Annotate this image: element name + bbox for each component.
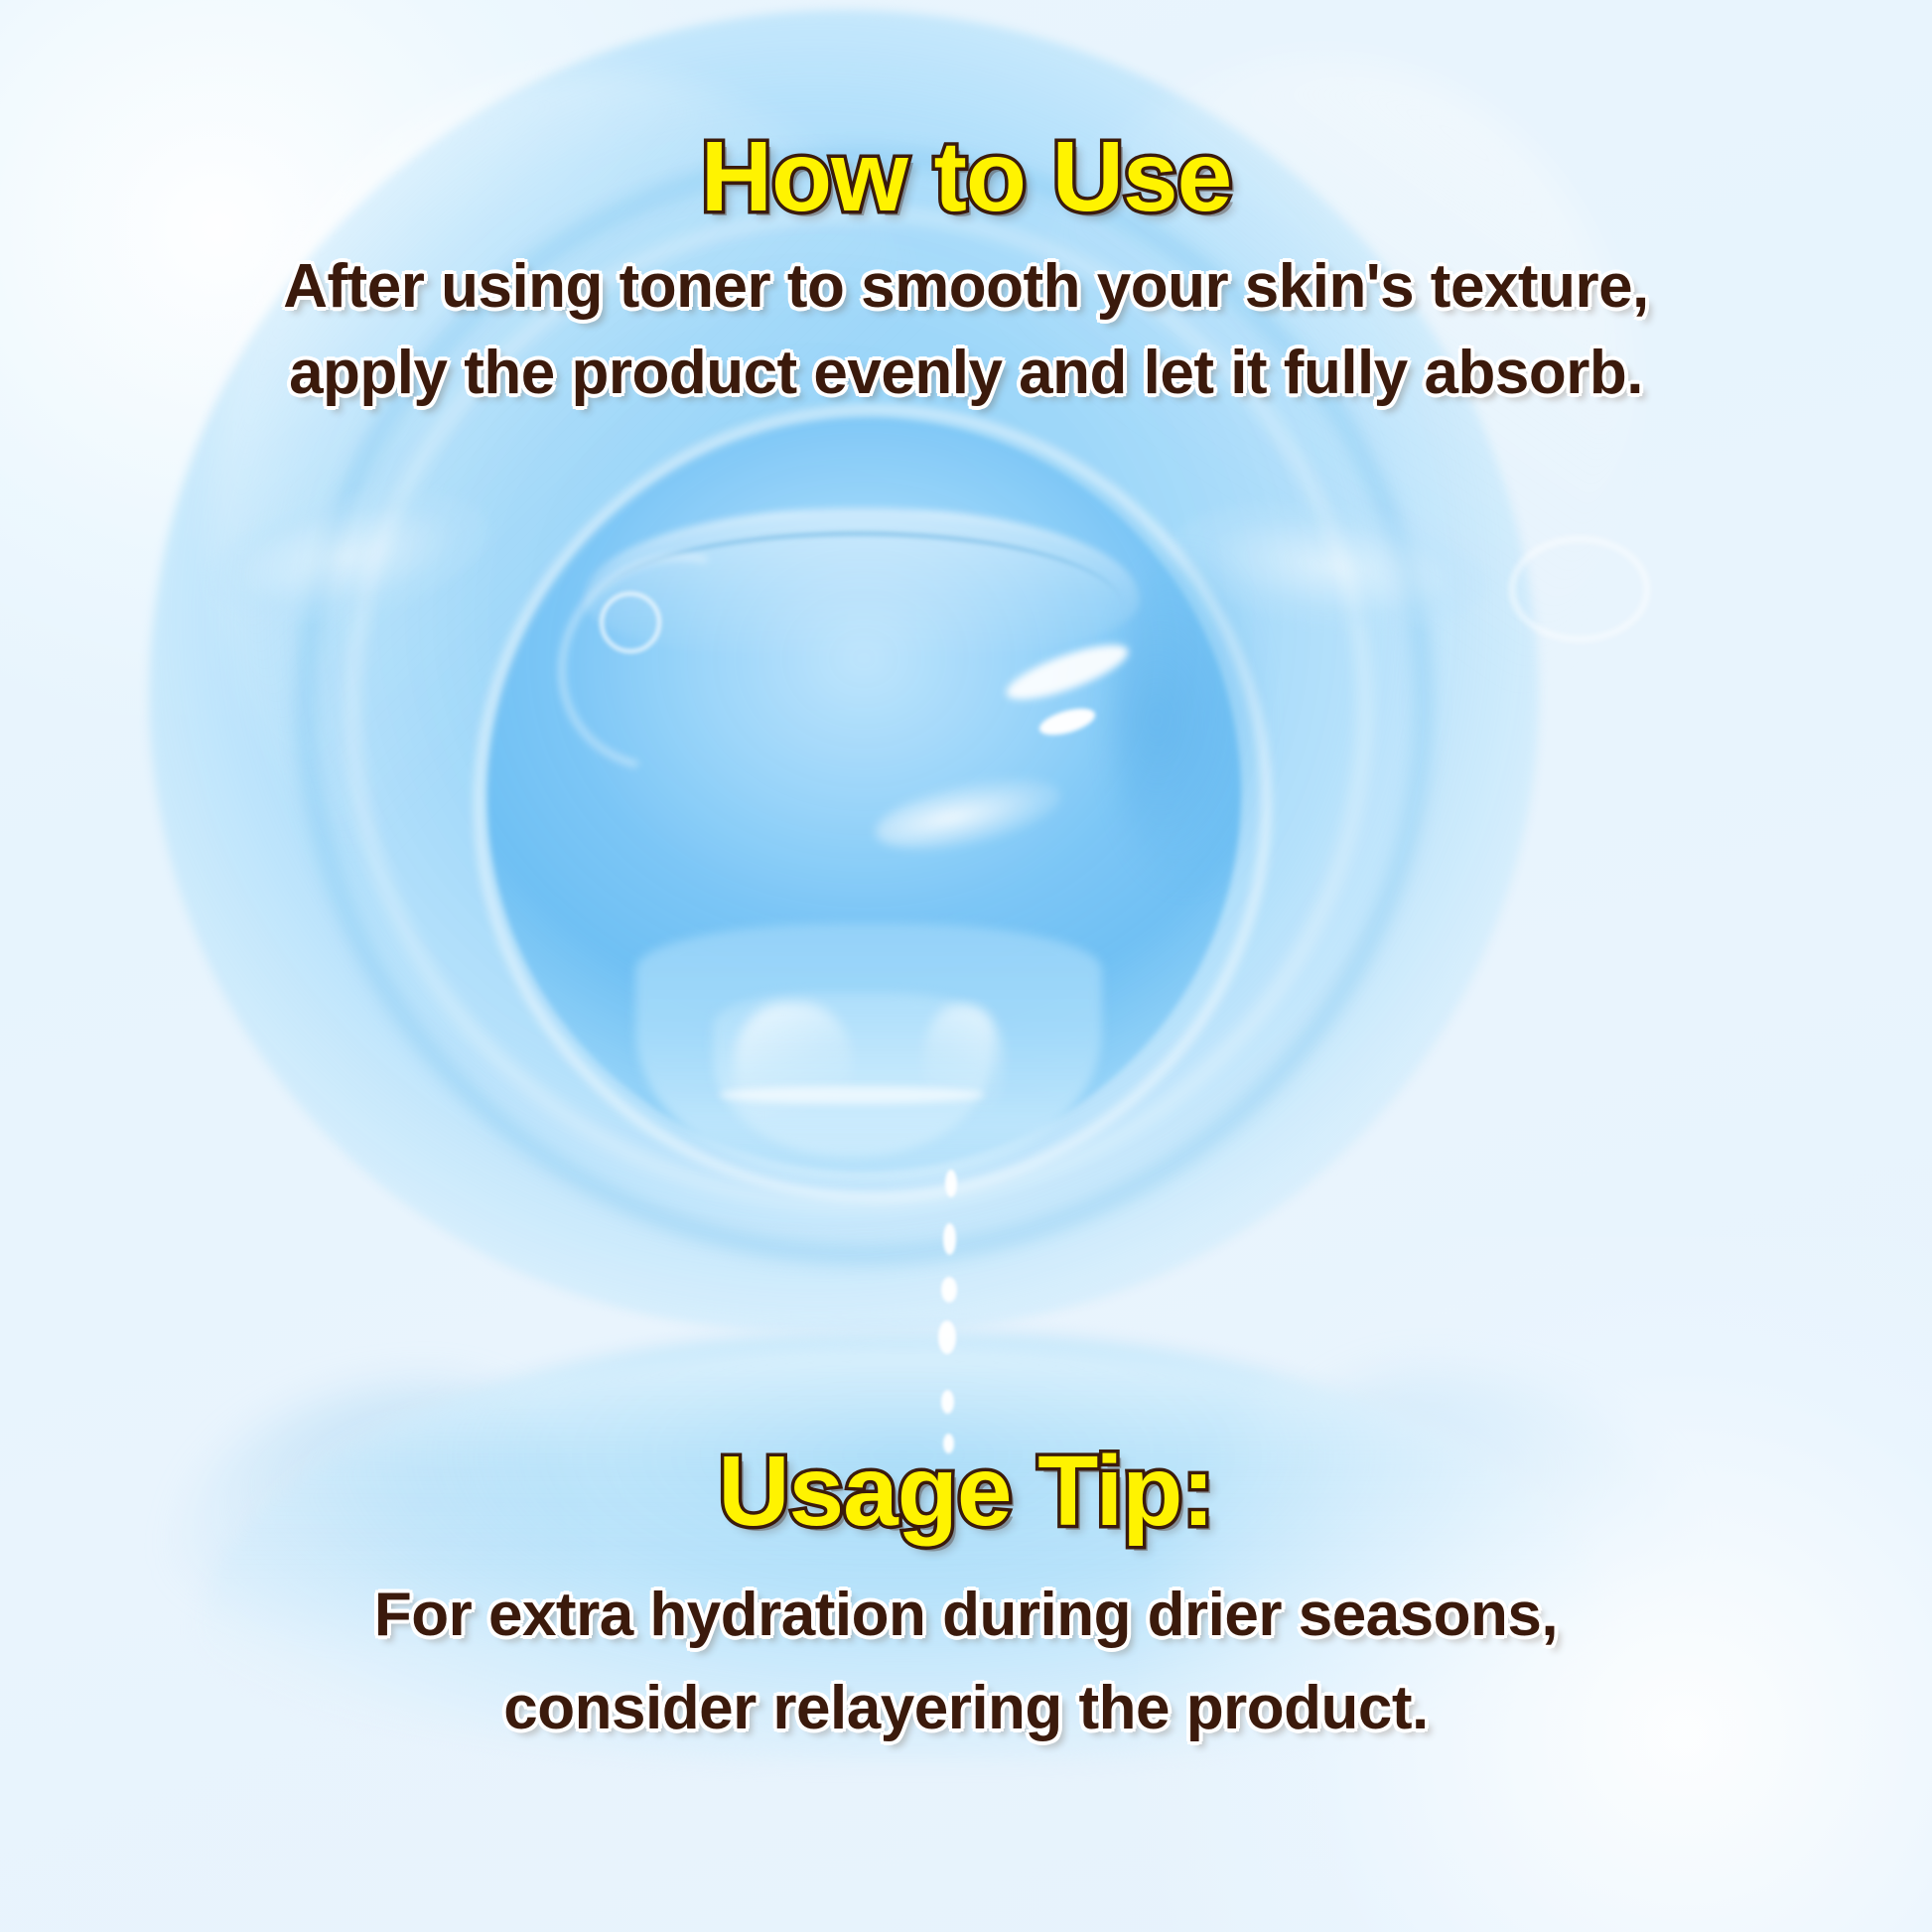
- drip-bead: [938, 1320, 956, 1354]
- gel-droplet-photo: [0, 0, 1932, 1932]
- drip-bead: [941, 1390, 954, 1414]
- drip-bead: [941, 1277, 957, 1303]
- product-instruction-poster: How to Use After using toner to smooth y…: [0, 0, 1932, 1932]
- gel-drip-highlight-left: [735, 1003, 852, 1132]
- gel-drip-band: [719, 1086, 985, 1104]
- drip-bead: [945, 1170, 957, 1197]
- gel-bubble: [600, 592, 661, 653]
- gel-curl-right: [1509, 536, 1650, 642]
- drip-bead: [943, 1434, 954, 1453]
- background-haze-bottom-right: [1138, 1237, 1932, 1932]
- gel-drip-highlight-right: [923, 1005, 1003, 1124]
- drip-bead: [943, 1223, 956, 1255]
